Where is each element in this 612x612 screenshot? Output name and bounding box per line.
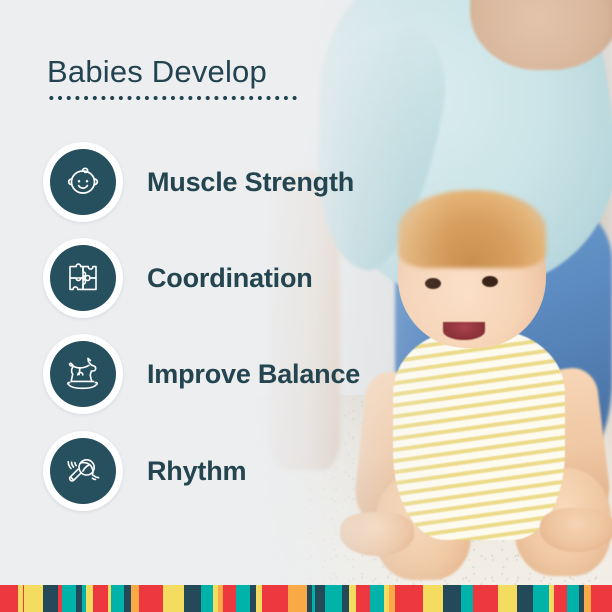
stripe-segment xyxy=(163,585,184,612)
stripe-segment xyxy=(443,585,461,612)
rocking-horse-icon xyxy=(50,341,116,407)
stripe-segment xyxy=(584,585,592,612)
benefit-row-rhythm: Rhythm xyxy=(43,430,246,512)
benefit-icon-badge xyxy=(43,238,123,318)
stripe-segment xyxy=(124,585,131,612)
stripe-segment xyxy=(236,585,250,612)
stripe-segment xyxy=(315,585,325,612)
benefit-row-muscle-strength: Muscle Strength xyxy=(43,141,354,223)
stripe-segment xyxy=(342,585,349,612)
stripe-segment xyxy=(554,585,567,612)
stripe-segment xyxy=(24,585,42,612)
benefit-label: Coordination xyxy=(147,263,313,294)
stripe-footer-bar xyxy=(0,585,612,612)
stripe-segment xyxy=(473,585,498,612)
stripe-segment xyxy=(43,585,58,612)
benefit-icon-badge xyxy=(43,334,123,414)
stripe-segment xyxy=(517,585,534,612)
stripe-segment xyxy=(201,585,213,612)
dotted-divider xyxy=(47,95,299,101)
benefit-row-improve-balance: Improve Balance xyxy=(43,333,360,415)
stripe-segment xyxy=(262,585,288,612)
stripe-segment xyxy=(111,585,124,612)
puzzle-icon xyxy=(50,245,116,311)
stripe-segment xyxy=(395,585,423,612)
poster-content: Babies Develop Muscle Strength xyxy=(0,0,612,585)
stripe-segment xyxy=(370,585,384,612)
page-title: Babies Develop xyxy=(47,54,267,90)
stripe-segment xyxy=(131,585,139,612)
stripe-segment xyxy=(93,585,108,612)
baby-face-icon xyxy=(50,149,116,215)
stripe-segment xyxy=(567,585,579,612)
stripe-segment xyxy=(498,585,516,612)
benefit-icon-badge xyxy=(43,142,123,222)
stripe-segment xyxy=(223,585,236,612)
stripe-segment xyxy=(349,585,357,612)
benefit-label: Muscle Strength xyxy=(147,167,354,198)
stripe-segment xyxy=(356,585,369,612)
rattle-icon xyxy=(50,438,116,504)
stripe-segment xyxy=(139,585,163,612)
benefit-label: Improve Balance xyxy=(147,359,360,390)
stripe-segment xyxy=(86,585,94,612)
stripe-segment xyxy=(288,585,306,612)
stripe-segment xyxy=(0,585,18,612)
stripe-segment xyxy=(184,585,201,612)
stripe-segment xyxy=(62,585,76,612)
benefit-label: Rhythm xyxy=(147,456,246,487)
stripe-segment xyxy=(325,585,342,612)
stripe-segment xyxy=(461,585,473,612)
stripe-segment xyxy=(533,585,548,612)
poster-canvas: Babies Develop Muscle Strength xyxy=(0,0,612,612)
benefit-row-coordination: Coordination xyxy=(43,237,313,319)
stripe-segment xyxy=(423,585,443,612)
stripe-segment xyxy=(591,585,611,612)
benefit-icon-badge xyxy=(43,431,123,511)
